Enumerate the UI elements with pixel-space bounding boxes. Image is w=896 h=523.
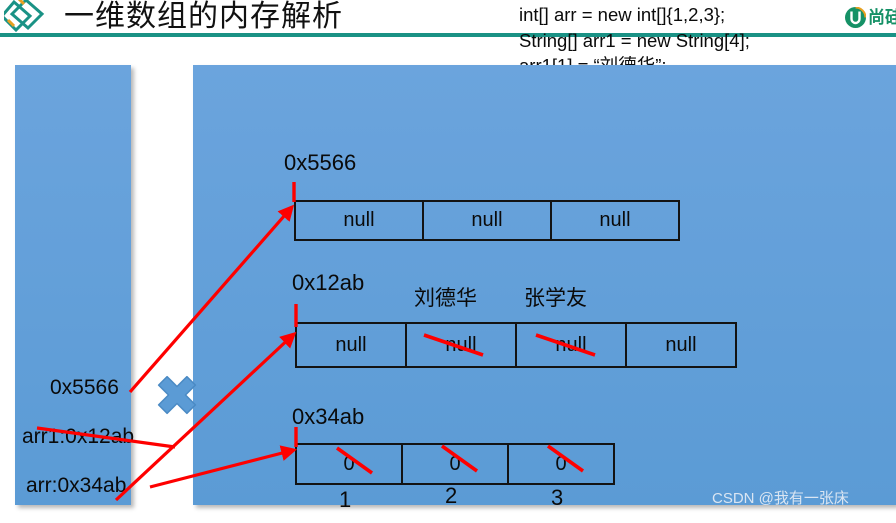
array-cell: null (515, 322, 627, 368)
heap-address-label: 0x12ab (292, 269, 364, 296)
array-cell: null (295, 322, 407, 368)
array-cell: null (405, 322, 517, 368)
array-cell: null (422, 200, 552, 241)
code-line: String[] arr1 = new String[4]; (519, 28, 891, 54)
watermark: CSDN @我有一张床 (712, 489, 849, 508)
slide-canvas: 一维数组的内存解析 int[] arr = new int[]{1,2,3}; … (0, 0, 896, 523)
array-cell: 0 (401, 443, 509, 485)
array-value-label: 张学友 (524, 286, 587, 312)
heap-address-label: 0x5566 (284, 149, 356, 176)
array-row-0x5566: null null null (294, 200, 680, 241)
page-title: 一维数组的内存解析 (64, 0, 343, 36)
array-row-0x34ab: 0 0 0 (295, 443, 615, 485)
array-index-label: 1 (339, 487, 351, 513)
stack-label-arr1: arr1:0x12ab (22, 424, 134, 450)
brand-text: 尚硅 (868, 7, 896, 28)
array-value-label: 刘德华 (414, 286, 477, 312)
array-row-0x12ab: null null null null (295, 322, 737, 368)
array-index-label: 3 (551, 485, 563, 511)
stack-label-address: 0x5566 (50, 375, 119, 401)
heap-address-label: 0x34ab (292, 403, 364, 430)
array-cell: 0 (507, 443, 615, 485)
array-cell: null (625, 322, 737, 368)
stack-label-arr: arr:0x34ab (26, 473, 126, 499)
diamond-logo-icon (4, 0, 60, 42)
array-cell: 0 (295, 443, 403, 485)
brand-logo: 尚硅 (845, 4, 896, 30)
code-line: int[] arr = new int[]{1,2,3}; (519, 2, 891, 28)
circle-u-icon (845, 7, 866, 28)
array-index-label: 2 (445, 483, 457, 509)
array-cell: null (550, 200, 680, 241)
array-cell: null (294, 200, 424, 241)
